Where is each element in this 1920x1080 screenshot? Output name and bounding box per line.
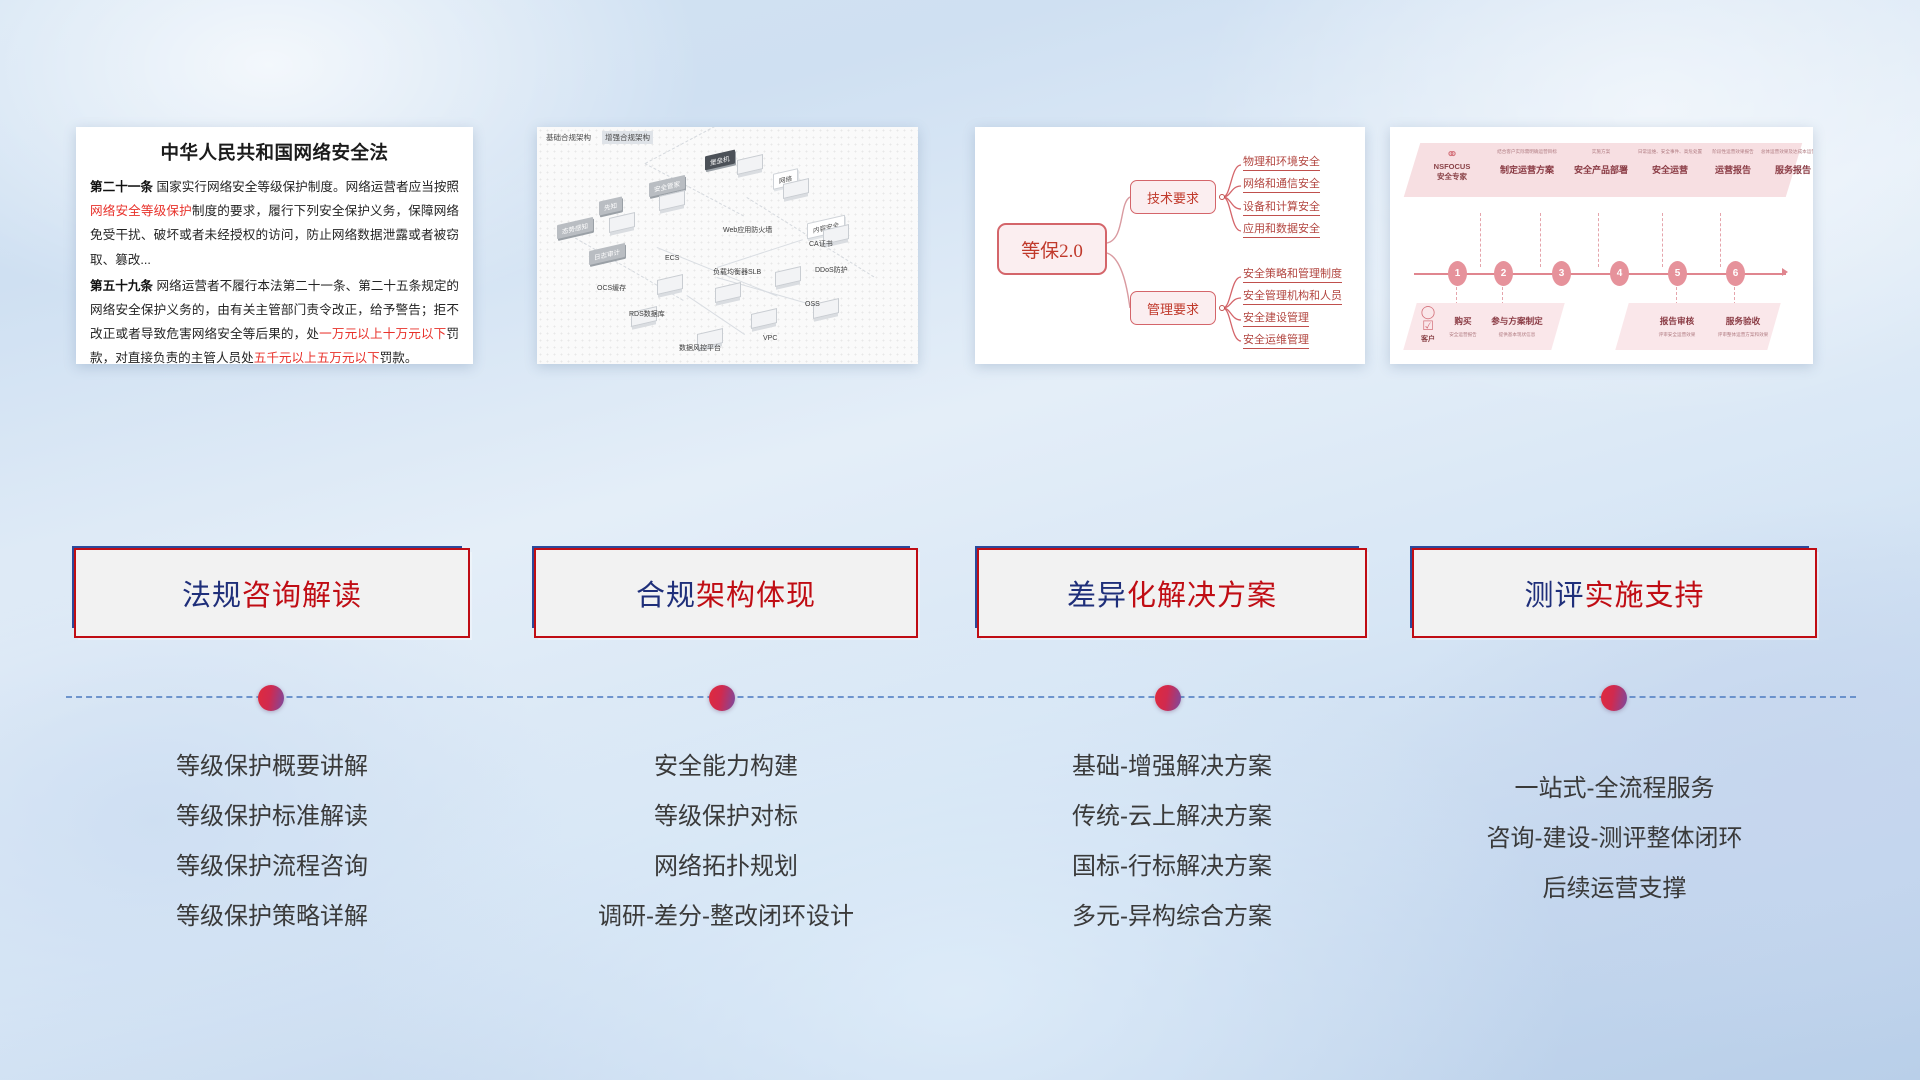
list-column-2: 安全能力构建 等级保护对标 网络拓扑规划 调研-差分-整改闭环设计 — [534, 742, 918, 942]
list-item: 后续运营支撑 — [1412, 864, 1817, 914]
list-item: 等级保护概要讲解 — [74, 742, 470, 792]
article-59-highlight-2: 五千元以上五万元以下 — [254, 351, 380, 365]
mindmap-collapse-dot-technical[interactable] — [1219, 194, 1225, 200]
nsfocus-connector-5 — [1720, 213, 1721, 267]
article-21-highlight: 网络安全等级保护 — [90, 204, 192, 218]
arch-label-rds: RDS数据库 — [629, 309, 665, 319]
timeline-dot-4[interactable] — [1601, 685, 1627, 711]
nsfocus-step-5-sub: 总体运营效果及达成本运营效果 — [1756, 149, 1813, 155]
bottom-lists-row: 等级保护概要讲解 等级保护标准解读 等级保护流程咨询 等级保护策略详解 安全能力… — [0, 742, 1920, 972]
nsfocus-step-5-main: 服务报告 — [1756, 163, 1813, 176]
heading-box-compliance-architecture[interactable]: 合规架构体现 — [534, 548, 918, 638]
reference-cards-row: 中华人民共和国网络安全法 第二十一条 国家实行网络安全等级保护制度。网络运营者应… — [0, 127, 1920, 367]
list-column-4: 一站式-全流程服务 咨询-建设-测评整体闭环 后续运营支撑 — [1412, 764, 1817, 914]
law-body: 第二十一条 国家实行网络安全等级保护制度。网络运营者应当按照网络安全等级保护制度… — [76, 165, 473, 370]
architecture-tabs: 基础合规架构 增强合规架构 — [543, 131, 653, 144]
arch-label-oss: OSS — [805, 301, 820, 308]
nsfocus-bottom-item-1-sub: 安全运营报告 — [1438, 332, 1488, 338]
nsfocus-bottom-item-4-sub: 评审整体运营方案和效果 — [1708, 332, 1778, 338]
nsfocus-banner-content: ⚭ NSFOCUS 安全专家 结合客户实际需明确运营目标 制定运营方案 实施方案… — [1412, 143, 1794, 197]
list-item: 国标-行标解决方案 — [977, 842, 1367, 892]
card-nsfocus-service-timeline: ⚭ NSFOCUS 安全专家 结合客户实际需明确运营目标 制定运营方案 实施方案… — [1390, 127, 1813, 364]
nsfocus-bottom-item-1-main: 购买 — [1438, 315, 1488, 327]
timeline-dot-3[interactable] — [1155, 685, 1181, 711]
heading-box-differentiated-solution[interactable]: 差异化解决方案 — [977, 548, 1367, 638]
nsfocus-bottom-item-2-sub: 提供基本现状信息 — [1484, 332, 1550, 338]
heading-text-1: 法规咨询解读 — [182, 572, 362, 614]
arch-cube-3 — [737, 154, 763, 175]
arch-label-ecs: ECS — [665, 255, 679, 262]
arch-node-log-audit: 日志审计 — [589, 243, 625, 265]
heading-2-blue: 合规 — [636, 580, 696, 612]
tab-enhanced-architecture: 增强合规架构 — [602, 131, 653, 144]
arch-cube-2 — [609, 212, 635, 233]
heading-2-red: 架构体现 — [696, 580, 816, 612]
list-item: 一站式-全流程服务 — [1412, 764, 1817, 814]
nsfocus-node-3: 3 — [1552, 261, 1571, 286]
list-item: 咨询-建设-测评整体闭环 — [1412, 814, 1817, 864]
nsfocus-connector-3 — [1598, 213, 1599, 267]
mindmap-collapse-dot-management[interactable] — [1219, 305, 1225, 311]
mindmap-leaf-physical-env: 物理和环境安全 — [1243, 153, 1320, 171]
nsfocus-bottom-item-4: 服务验收 评审整体运营方案和效果 — [1708, 315, 1778, 338]
nsfocus-node-4: 4 — [1610, 261, 1629, 286]
mindmap: 等保2.0 技术要求 物理和环境安全 网络和通信安全 设备和计算安全 应用和数据… — [979, 131, 1361, 360]
mindmap-leaf-policy-system: 安全策略和管理制度 — [1243, 265, 1342, 283]
list-item: 安全能力构建 — [534, 742, 918, 792]
arch-link-2 — [717, 239, 803, 268]
heading-3-blue: 差异 — [1067, 580, 1127, 612]
list-item: 等级保护对标 — [534, 792, 918, 842]
nsfocus-step-1-sub: 结合客户实际需明确运营目标 — [1488, 149, 1566, 155]
mindmap-leaf-ops-mgmt: 安全运维管理 — [1243, 331, 1309, 349]
nsfocus-brand: NSFOCUS — [1424, 162, 1480, 171]
nsfocus-node-1: 1 — [1448, 261, 1467, 286]
arch-label-ca: CA证书 — [809, 239, 833, 249]
nsfocus-step-1-main: 制定运营方案 — [1488, 163, 1566, 176]
law-article-59: 第五十九条 网络运营者不履行本法第二十一条、第二十五条规定的网络安全保护义务的，… — [90, 274, 459, 371]
nsfocus-expert-label: 安全专家 — [1424, 171, 1480, 182]
article-59-highlight-1: 一万元以上十万元以下 — [319, 327, 446, 341]
timeline-dashed-line — [66, 696, 1856, 698]
arch-label-ddos: DDoS防护 — [815, 265, 848, 275]
nsfocus-bottom-item-4-main: 服务验收 — [1708, 315, 1778, 327]
timeline-dot-2[interactable] — [709, 685, 735, 711]
nsfocus-node-5: 5 — [1668, 261, 1687, 286]
arch-node-situational-awareness: 态势感知 — [557, 217, 593, 239]
list-column-1: 等级保护概要讲解 等级保护标准解读 等级保护流程咨询 等级保护策略详解 — [74, 742, 470, 942]
mindmap-branch-management: 管理要求 — [1130, 291, 1216, 325]
list-item: 基础-增强解决方案 — [977, 742, 1367, 792]
card-dengbao-mindmap: 等保2.0 技术要求 物理和环境安全 网络和通信安全 设备和计算安全 应用和数据… — [975, 127, 1365, 364]
heading-text-4: 测评实施支持 — [1524, 572, 1704, 614]
list-column-3: 基础-增强解决方案 传统-云上解决方案 国标-行标解决方案 多元-异构综合方案 — [977, 742, 1367, 942]
arch-label-slb: 负载均衡器SLB — [713, 267, 761, 277]
nsfocus-connector-4 — [1662, 213, 1663, 267]
heading-1-blue: 法规 — [182, 580, 242, 612]
nsfocus-node-2: 2 — [1494, 261, 1513, 286]
list-item: 等级保护策略详解 — [74, 892, 470, 942]
tab-base-architecture: 基础合规架构 — [543, 131, 594, 144]
arch-cube-10 — [751, 308, 777, 329]
timeline-dot-1[interactable] — [258, 685, 284, 711]
article-59-label: 第五十九条 — [90, 279, 153, 293]
mindmap-root-node: 等保2.0 — [997, 223, 1107, 275]
heading-text-3: 差异化解决方案 — [1067, 572, 1277, 614]
mindmap-leaf-network-comm: 网络和通信安全 — [1243, 175, 1320, 193]
law-title: 中华人民共和国网络安全法 — [76, 139, 473, 165]
heading-4-red: 实施支持 — [1585, 580, 1705, 612]
list-item: 多元-异构综合方案 — [977, 892, 1367, 942]
heading-boxes-row: 法规咨询解读 合规架构体现 差异化解决方案 测评实施支持 — [0, 548, 1920, 640]
mindmap-leaf-org-personnel: 安全管理机构和人员 — [1243, 287, 1342, 305]
article-21-label: 第二十一条 — [90, 180, 153, 194]
list-item: 调研-差分-整改闭环设计 — [534, 892, 918, 942]
list-item: 等级保护流程咨询 — [74, 842, 470, 892]
nsfocus-expert-block: ⚭ NSFOCUS 安全专家 — [1424, 147, 1480, 182]
heading-4-blue: 测评 — [1524, 580, 1584, 612]
arch-cube-6 — [657, 274, 683, 295]
heading-3-red: 化解决方案 — [1127, 580, 1277, 612]
card-cybersecurity-law: 中华人民共和国网络安全法 第二十一条 国家实行网络安全等级保护制度。网络运营者应… — [76, 127, 473, 364]
nsfocus-bottom-item-3: 报告审核 评审安全运营效果 — [1646, 315, 1708, 338]
nsfocus-bottom-item-2-main: 参与方案制定 — [1484, 315, 1550, 327]
nsfocus-bottom-item-1: 购买 安全运营报告 — [1438, 315, 1488, 338]
mindmap-leaf-construction-mgmt: 安全建设管理 — [1243, 309, 1309, 327]
list-item: 等级保护标准解读 — [74, 792, 470, 842]
arch-cube-7 — [715, 282, 741, 303]
mindmap-leaf-device-compute: 设备和计算安全 — [1243, 198, 1320, 216]
nsfocus-step-1: 结合客户实际需明确运营目标 制定运营方案 — [1488, 149, 1566, 176]
nsfocus-bottom-item-3-main: 报告审核 — [1646, 315, 1708, 327]
heading-text-2: 合规架构体现 — [636, 572, 816, 614]
nsfocus-step-5: 总体运营效果及达成本运营效果 服务报告 — [1756, 149, 1813, 176]
nsfocus-bottom-item-2: 参与方案制定 提供基本现状信息 — [1484, 315, 1550, 338]
arch-node-foresight: 先知 — [599, 196, 622, 215]
heading-box-assessment-support[interactable]: 测评实施支持 — [1412, 548, 1817, 638]
list-item: 网络拓扑规划 — [534, 842, 918, 892]
card-compliance-architecture: 基础合规架构 增强合规架构 堡垒机 安全管家 先知 态势感知 日志审计 网络 内… — [537, 127, 918, 364]
heading-box-regulation-consulting[interactable]: 法规咨询解读 — [74, 548, 470, 638]
arch-label-waf: Web应用防火墙 — [723, 225, 772, 235]
arch-label-vpc: VPC — [763, 335, 777, 342]
heading-1-red: 咨询解读 — [242, 580, 362, 612]
mindmap-leaf-app-data: 应用和数据安全 — [1243, 220, 1320, 238]
nsfocus-axis-arrow-icon — [1782, 268, 1788, 276]
architecture-diagram: 基础合规架构 增强合规架构 堡垒机 安全管家 先知 态势感知 日志审计 网络 内… — [537, 127, 918, 364]
arch-node-bastion: 堡垒机 — [705, 150, 735, 171]
list-item: 传统-云上解决方案 — [977, 792, 1367, 842]
nsfocus-bottom-item-3-sub: 评审安全运营效果 — [1646, 332, 1708, 338]
law-article-21: 第二十一条 国家实行网络安全等级保护制度。网络运营者应当按照网络安全等级保护制度… — [90, 175, 459, 272]
mindmap-branch-technical: 技术要求 — [1130, 180, 1216, 214]
arch-cube-8 — [775, 266, 801, 287]
nsfocus-connector-1 — [1480, 213, 1481, 267]
person-star-icon: ⚭ — [1424, 147, 1480, 162]
nsfocus-connector-2 — [1540, 213, 1541, 267]
article-21-text-1: 国家实行网络安全等级保护制度。网络运营者应当按照 — [157, 180, 459, 194]
arch-label-risk-control: 数据风控平台 — [679, 343, 721, 353]
nsfocus-timeline: ⚭ NSFOCUS 安全专家 结合客户实际需明确运营目标 制定运营方案 实施方案… — [1390, 127, 1813, 364]
article-59-text-3: 罚款。 — [380, 351, 418, 365]
arch-label-ocs: OCS缓存 — [597, 283, 626, 293]
nsfocus-node-6: 6 — [1726, 261, 1745, 286]
